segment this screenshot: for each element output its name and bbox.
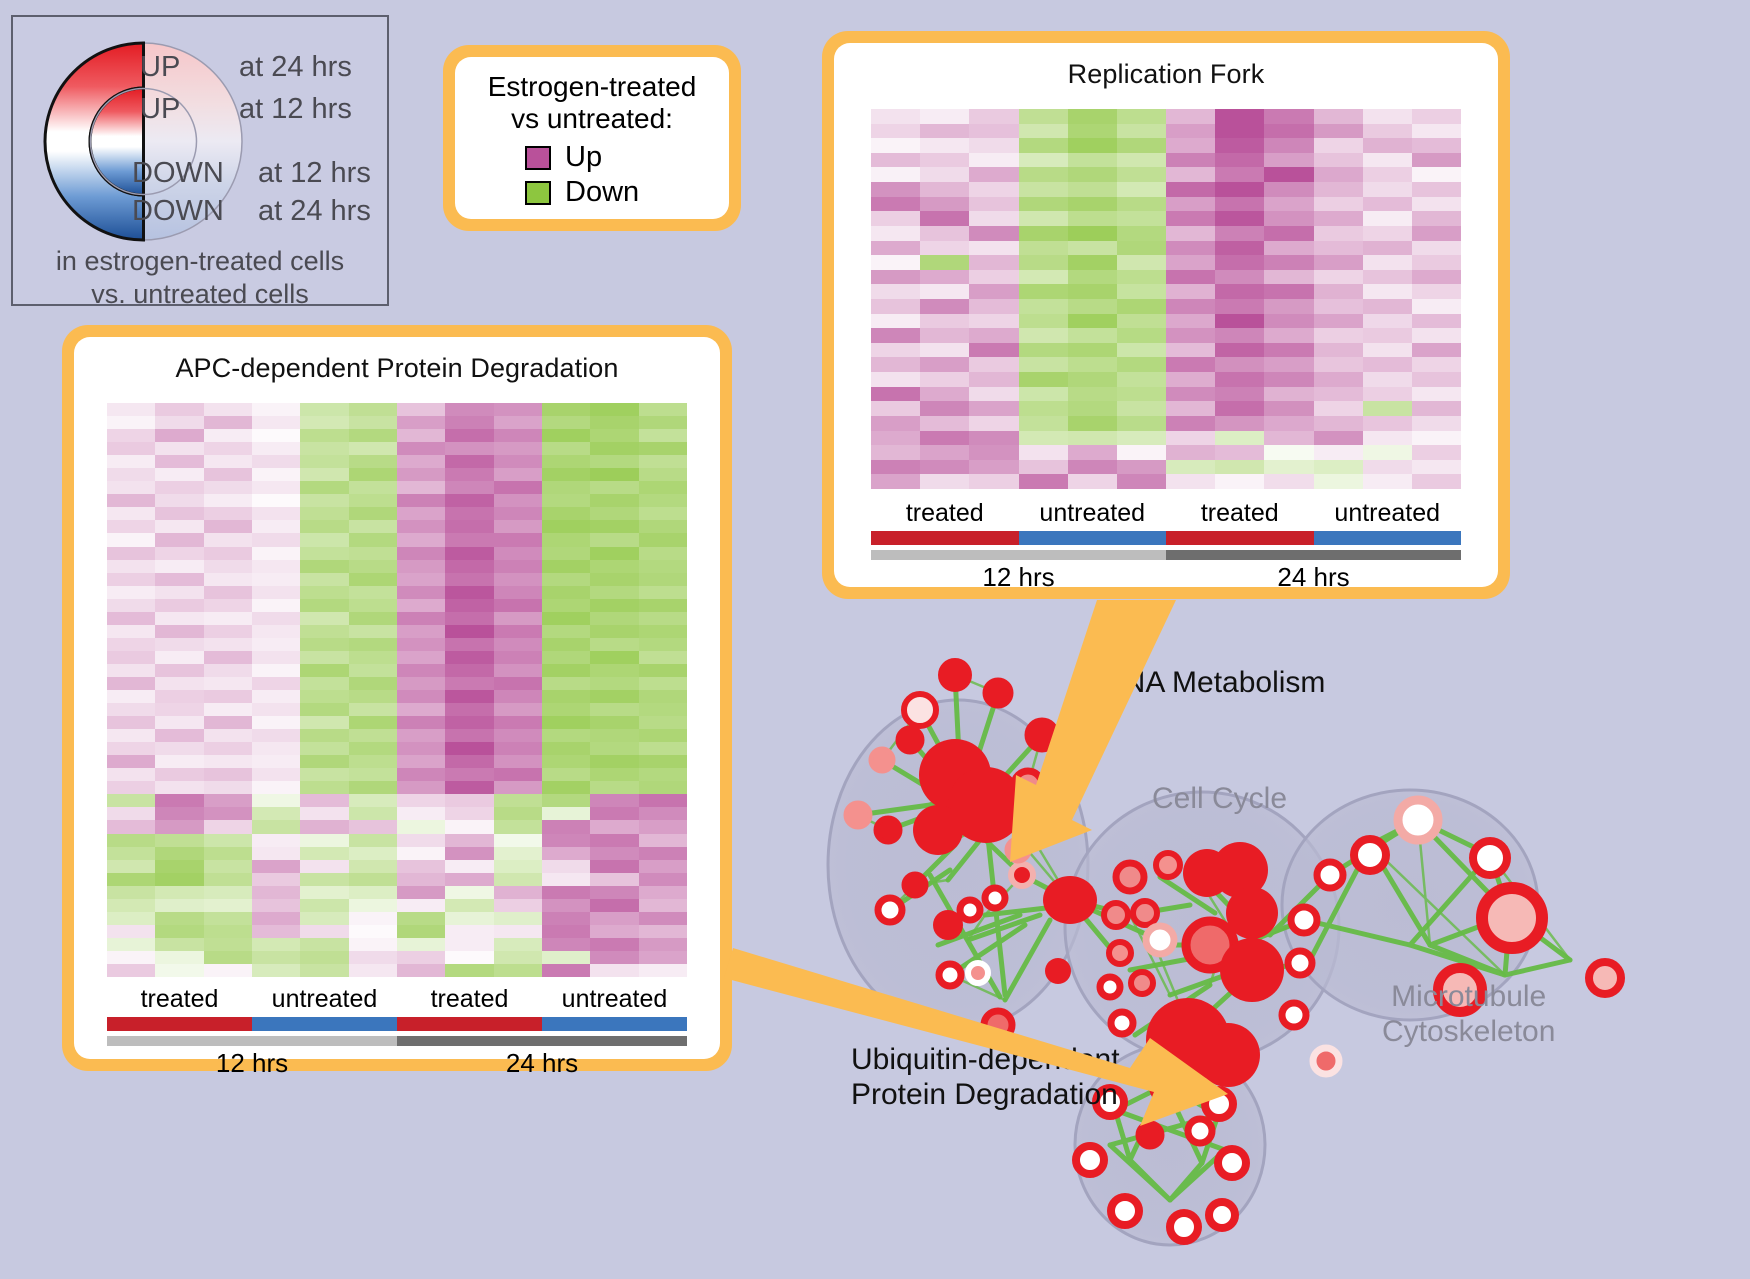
heatmap-cell xyxy=(590,455,638,468)
heatmap-cell xyxy=(1264,357,1313,372)
heatmap-cell xyxy=(1117,357,1166,372)
heatmap-cell xyxy=(349,612,397,625)
heatmap-cell xyxy=(252,860,300,873)
heatmap-cell xyxy=(920,226,969,241)
heatmap-cell xyxy=(1363,372,1412,387)
heatmap-cell xyxy=(920,343,969,358)
heatmap-cell xyxy=(445,860,493,873)
cluster-label-cell-cycle: Cell Cycle xyxy=(1152,782,1287,817)
heatmap-cell xyxy=(590,886,638,899)
heatmap-cell xyxy=(1412,372,1461,387)
heatmap-cell xyxy=(969,357,1018,372)
heatmap-cell xyxy=(1215,197,1264,212)
heatmap-cell xyxy=(542,807,590,820)
heatmap-cell xyxy=(107,507,155,520)
heatmap-cell xyxy=(1068,167,1117,182)
heatmap-cell xyxy=(1019,416,1068,431)
heatmap-cell xyxy=(542,612,590,625)
legend-title: Estrogen-treated vs untreated: xyxy=(465,71,719,135)
heatmap-cell xyxy=(349,455,397,468)
sample-colour-segment xyxy=(871,531,1019,545)
heatmap-cell xyxy=(969,167,1018,182)
heatmap-cell xyxy=(1068,182,1117,197)
heatmap-cell xyxy=(590,547,638,560)
heatmap-cell xyxy=(349,416,397,429)
heatmap-cell xyxy=(204,494,252,507)
heatmap-cell xyxy=(349,742,397,755)
heatmap-cell xyxy=(397,755,445,768)
heatmap-cell xyxy=(155,834,203,847)
heatmap-cell xyxy=(204,638,252,651)
heatmap-cell xyxy=(155,847,203,860)
heatmap-cell xyxy=(920,167,969,182)
heatmap-cell xyxy=(300,690,348,703)
heatmap-cell xyxy=(920,460,969,475)
legend-items: Up Down xyxy=(465,141,719,209)
heatmap-cell xyxy=(1019,270,1068,285)
timepoint-label-row: 12 hrs24 hrs xyxy=(107,1048,687,1079)
heatmap-cell xyxy=(204,599,252,612)
heatmap-cell xyxy=(349,690,397,703)
heatmap-cell xyxy=(639,547,687,560)
heatmap-cell xyxy=(1363,299,1412,314)
heatmap-cell xyxy=(1215,387,1264,402)
heatmap-cell xyxy=(590,520,638,533)
heatmap-cell xyxy=(1068,416,1117,431)
heatmap-cell xyxy=(445,520,493,533)
heatmap-cell xyxy=(445,690,493,703)
heatmap-cell xyxy=(1117,124,1166,139)
key-row-down-24-label: DOWN xyxy=(132,195,224,228)
heatmap-cell xyxy=(155,612,203,625)
heatmap-cell xyxy=(155,429,203,442)
heatmap-cell xyxy=(252,703,300,716)
heatmap-cell xyxy=(252,507,300,520)
heatmap-cell xyxy=(155,442,203,455)
network-node xyxy=(1111,1012,1133,1034)
heatmap-cell xyxy=(155,951,203,964)
heatmap-cell xyxy=(1068,474,1117,489)
heatmap-cell xyxy=(349,599,397,612)
heatmap-cell xyxy=(252,468,300,481)
heatmap-cell xyxy=(397,781,445,794)
heatmap-cell xyxy=(300,586,348,599)
figure-canvas: UP at 24 hrs UP at 12 hrs DOWN at 12 hrs… xyxy=(0,0,1750,1279)
heatmap-cell xyxy=(445,964,493,977)
heatmap-cell xyxy=(397,612,445,625)
heatmap-cell xyxy=(969,124,1018,139)
heatmap-cell xyxy=(252,677,300,690)
heatmap-cell xyxy=(155,781,203,794)
heatmap-cell xyxy=(1166,474,1215,489)
heatmap-cell xyxy=(639,573,687,586)
network-node xyxy=(1131,972,1153,994)
heatmap-cell xyxy=(1314,284,1363,299)
heatmap-cell xyxy=(542,781,590,794)
heatmap-cell xyxy=(871,255,920,270)
heatmap-cell xyxy=(349,625,397,638)
heatmap-cell xyxy=(252,403,300,416)
heatmap-cell xyxy=(1314,255,1363,270)
heatmap-cell xyxy=(542,820,590,833)
heatmap-cell xyxy=(1363,431,1412,446)
heatmap-cell xyxy=(1363,445,1412,460)
heatmap-cell xyxy=(1215,182,1264,197)
heatmap-cell xyxy=(639,768,687,781)
heatmap-cell xyxy=(252,651,300,664)
network-node xyxy=(1209,1202,1235,1228)
heatmap-cell xyxy=(397,416,445,429)
heatmap-cell xyxy=(871,431,920,446)
heatmap-cell xyxy=(445,794,493,807)
heatmap-cell xyxy=(494,533,542,546)
heatmap-cell xyxy=(542,651,590,664)
heatmap-cell xyxy=(1117,211,1166,226)
heatmap-cell xyxy=(397,494,445,507)
heatmap-cell xyxy=(107,468,155,481)
heatmap-cell xyxy=(542,560,590,573)
heatmap-cell xyxy=(252,873,300,886)
heatmap-cell xyxy=(1363,211,1412,226)
heatmap-cell xyxy=(871,416,920,431)
heatmap-cell xyxy=(397,507,445,520)
heatmap-cell xyxy=(107,638,155,651)
legend-title-line2: vs untreated: xyxy=(465,103,719,135)
heatmap-cell xyxy=(300,547,348,560)
heatmap-cell xyxy=(252,899,300,912)
heatmap-cell xyxy=(204,899,252,912)
heatmap-cell xyxy=(107,586,155,599)
heatmap-cell xyxy=(107,886,155,899)
heatmap-cell xyxy=(155,768,203,781)
heatmap-cell xyxy=(397,703,445,716)
heatmap-cell xyxy=(445,768,493,781)
heatmap-cell xyxy=(542,716,590,729)
legend-swatch-down xyxy=(525,181,551,205)
heatmap-cell xyxy=(155,873,203,886)
heatmap-cell xyxy=(204,729,252,742)
heatmap-cell xyxy=(252,429,300,442)
network-node xyxy=(1011,864,1033,886)
heatmap-cell xyxy=(542,586,590,599)
heatmap-cell xyxy=(639,834,687,847)
heatmap-cell xyxy=(1166,153,1215,168)
heatmap-cell xyxy=(969,431,1018,446)
heatmap-cell xyxy=(397,716,445,729)
heatmap-cell xyxy=(204,677,252,690)
heatmap-cell xyxy=(969,445,1018,460)
network-node xyxy=(1153,1074,1179,1100)
heatmap-cell xyxy=(349,899,397,912)
heatmap-cell xyxy=(204,455,252,468)
heatmap-cell xyxy=(252,533,300,546)
heatmap-cell xyxy=(252,573,300,586)
heatmap-cell xyxy=(542,494,590,507)
heatmap-cell xyxy=(300,494,348,507)
heatmap-cell xyxy=(349,664,397,677)
heatmap-cell xyxy=(1117,226,1166,241)
heatmap-cell xyxy=(1264,255,1313,270)
heatmap-cell xyxy=(252,416,300,429)
heatmap-cell xyxy=(1215,270,1264,285)
heatmap-cell xyxy=(1412,197,1461,212)
heatmap-cell xyxy=(590,964,638,977)
heatmap-cell xyxy=(252,560,300,573)
heatmap-cell xyxy=(1019,431,1068,446)
heatmap-cell xyxy=(1264,460,1313,475)
network-node xyxy=(985,680,1011,706)
heatmap-cell xyxy=(300,794,348,807)
heatmap-cell xyxy=(445,599,493,612)
heatmap-cell xyxy=(1264,226,1313,241)
network-node xyxy=(1156,853,1180,877)
heatmap-cell xyxy=(445,847,493,860)
heatmap-cell xyxy=(107,755,155,768)
key-row-up-24-time: at 24 hrs xyxy=(239,51,352,84)
heatmap-cell xyxy=(494,729,542,742)
heatmap-cell xyxy=(397,820,445,833)
heatmap-cell xyxy=(349,573,397,586)
heatmap-cell xyxy=(1412,343,1461,358)
heatmap-cell xyxy=(445,925,493,938)
heatmap-cell xyxy=(1363,314,1412,329)
heatmap-cell xyxy=(1314,445,1363,460)
heatmap-cell xyxy=(155,925,203,938)
heatmap-cell xyxy=(920,211,969,226)
heatmap-cell xyxy=(252,807,300,820)
heatmap-cell xyxy=(1019,284,1068,299)
heatmap-cell xyxy=(1068,197,1117,212)
heatmap-cell xyxy=(1314,474,1363,489)
sample-colour-segment xyxy=(252,1017,397,1031)
heatmap-cell xyxy=(107,794,155,807)
heatmap-cell xyxy=(155,533,203,546)
heatmap-cell xyxy=(155,573,203,586)
heatmap-cell xyxy=(542,938,590,951)
heatmap-cell xyxy=(1068,211,1117,226)
heatmap-cell xyxy=(1166,328,1215,343)
heatmap-cell xyxy=(1363,138,1412,153)
heatmap-cell xyxy=(542,690,590,703)
heatmap-cell xyxy=(494,494,542,507)
key-row-up-12-label: UP xyxy=(140,93,180,126)
heatmap-cell xyxy=(542,547,590,560)
network-node xyxy=(1196,1023,1260,1087)
heatmap-cell xyxy=(590,533,638,546)
heatmap-cell xyxy=(639,794,687,807)
heatmap-cell xyxy=(920,284,969,299)
heatmap-cell xyxy=(1412,153,1461,168)
heatmap-cell xyxy=(494,964,542,977)
heatmap-cell xyxy=(920,138,969,153)
heatmap-cell xyxy=(590,938,638,951)
heatmap-cell xyxy=(300,886,348,899)
heatmap-cell xyxy=(1264,124,1313,139)
heatmap-cell xyxy=(1264,241,1313,256)
heatmap-cell xyxy=(1363,284,1412,299)
heatmap-cell xyxy=(445,807,493,820)
heatmap-cell xyxy=(1166,241,1215,256)
heatmap-cell xyxy=(107,807,155,820)
heatmap-cell xyxy=(1019,357,1068,372)
heatmap-cell xyxy=(1019,328,1068,343)
network-node xyxy=(1288,951,1312,975)
heatmap-cell xyxy=(107,964,155,977)
heatmap-cell xyxy=(300,860,348,873)
heatmap-cell xyxy=(1215,343,1264,358)
heatmap-cell xyxy=(445,638,493,651)
heatmap-cell xyxy=(204,768,252,781)
sample-colour-segment xyxy=(1314,531,1462,545)
heatmap-cell xyxy=(542,964,590,977)
heatmap-cell xyxy=(107,716,155,729)
heatmap-cell xyxy=(1412,284,1461,299)
heatmap-cell xyxy=(494,703,542,716)
heatmap-cell xyxy=(1314,197,1363,212)
heatmap-cell xyxy=(300,455,348,468)
heatmap-cell xyxy=(639,964,687,977)
heatmap-cell xyxy=(1264,328,1313,343)
heatmap-cell xyxy=(300,925,348,938)
heatmap-cell xyxy=(639,403,687,416)
network-node xyxy=(1027,720,1057,750)
heatmap-cell xyxy=(107,690,155,703)
heatmap-cell xyxy=(494,847,542,860)
heatmap-cell xyxy=(300,807,348,820)
heatmap-cell xyxy=(204,481,252,494)
heatmap-cell xyxy=(252,690,300,703)
heatmap-cell xyxy=(1068,328,1117,343)
heatmap-cell xyxy=(969,109,1018,124)
heatmap-cell xyxy=(349,703,397,716)
legend-label-down: Down xyxy=(565,176,639,209)
sample-colour-segment xyxy=(1166,531,1314,545)
heatmap-cell xyxy=(397,664,445,677)
heatmap-cell xyxy=(639,886,687,899)
heatmap-cell xyxy=(639,807,687,820)
heatmap-cell xyxy=(494,416,542,429)
heatmap-cell xyxy=(107,573,155,586)
heatmap-cell xyxy=(969,197,1018,212)
heatmap-cell xyxy=(639,612,687,625)
network-node xyxy=(1111,1197,1139,1225)
heatmap-cell xyxy=(155,794,203,807)
heatmap-cell xyxy=(542,742,590,755)
heatmap-cell xyxy=(494,599,542,612)
heatmap-cell xyxy=(920,372,969,387)
heatmap-cell xyxy=(969,153,1018,168)
heatmap-cell xyxy=(1019,226,1068,241)
heatmap-cell xyxy=(1215,401,1264,416)
apc-degradation-inner: APC-dependent Protein Degradation treate… xyxy=(74,337,720,1059)
heatmap-cell xyxy=(639,729,687,742)
heatmap-cell xyxy=(204,755,252,768)
heatmap-cell xyxy=(639,716,687,729)
legend-item-up: Up xyxy=(525,141,719,174)
heatmap-cell xyxy=(1117,182,1166,197)
heatmap-cell xyxy=(1314,167,1363,182)
heatmap-cell xyxy=(590,573,638,586)
heatmap-cell xyxy=(1166,284,1215,299)
heatmap-cell xyxy=(871,270,920,285)
network-node xyxy=(1025,812,1051,838)
network-node xyxy=(1104,903,1128,927)
heatmap-cell xyxy=(1019,241,1068,256)
heatmap-cell xyxy=(542,677,590,690)
heatmap-cell xyxy=(494,403,542,416)
heatmap-cell xyxy=(590,468,638,481)
heatmap-cell xyxy=(1264,372,1313,387)
heatmap-cell xyxy=(445,586,493,599)
heatmap-cell xyxy=(542,625,590,638)
heatmap-cell xyxy=(1264,445,1313,460)
heatmap-cell xyxy=(590,442,638,455)
heatmap-cell xyxy=(494,429,542,442)
heatmap-cell xyxy=(1215,226,1264,241)
heatmap-cell xyxy=(1166,255,1215,270)
heatmap-cell xyxy=(349,781,397,794)
heatmap-cell xyxy=(969,211,1018,226)
heatmap-cell xyxy=(1019,474,1068,489)
heatmap-cell xyxy=(204,442,252,455)
heatmap-cell xyxy=(1019,211,1068,226)
heatmap-cell xyxy=(397,573,445,586)
heatmap-cell xyxy=(300,755,348,768)
heatmap-cell xyxy=(252,951,300,964)
heatmap-cell xyxy=(1068,445,1117,460)
heatmap-cell xyxy=(1166,167,1215,182)
heatmap-cell xyxy=(1166,226,1215,241)
heatmap-cell xyxy=(107,951,155,964)
heatmap-cell xyxy=(300,625,348,638)
heatmap-cell xyxy=(252,938,300,951)
heatmap-cell xyxy=(1363,343,1412,358)
heatmap-cell xyxy=(445,416,493,429)
heatmap-cell xyxy=(1117,314,1166,329)
timepoint-colour-bar xyxy=(107,1036,687,1046)
heatmap-cell xyxy=(1363,460,1412,475)
heatmap-cell xyxy=(252,768,300,781)
heatmap-cell xyxy=(300,651,348,664)
heatmap-cell xyxy=(1019,182,1068,197)
heatmap-cell xyxy=(300,481,348,494)
timepoint-label: 12 hrs xyxy=(107,1048,397,1079)
heatmap-cell xyxy=(1117,445,1166,460)
heatmap-cell xyxy=(542,873,590,886)
heatmap-cell xyxy=(920,314,969,329)
network-node xyxy=(913,805,963,855)
heatmap-cell xyxy=(445,664,493,677)
heatmap-cell xyxy=(1117,299,1166,314)
heatmap-cell xyxy=(871,460,920,475)
heatmap-cell xyxy=(639,912,687,925)
heatmap-cell xyxy=(252,794,300,807)
heatmap-cell xyxy=(349,403,397,416)
heatmap-cell xyxy=(107,625,155,638)
heatmap-cell xyxy=(494,951,542,964)
heatmap-cell xyxy=(590,912,638,925)
heatmap-cell xyxy=(1412,401,1461,416)
heatmap-cell xyxy=(349,755,397,768)
heatmap-cell xyxy=(590,677,638,690)
heatmap-cell xyxy=(1166,357,1215,372)
heatmap-cell xyxy=(639,847,687,860)
heatmap-cell xyxy=(1166,182,1215,197)
heatmap-cell xyxy=(969,343,1018,358)
heatmap-cell xyxy=(252,847,300,860)
heatmap-cell xyxy=(252,520,300,533)
heatmap-cell xyxy=(1117,431,1166,446)
